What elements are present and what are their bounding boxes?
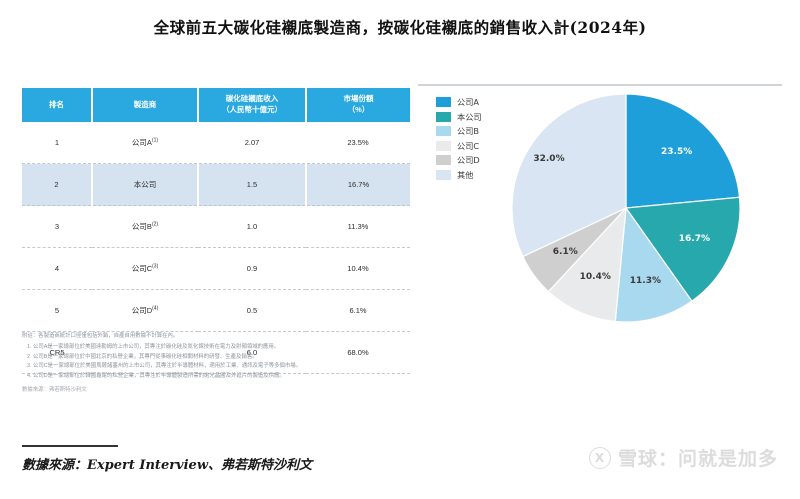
cell-share: 6.1%	[306, 290, 410, 332]
cell-manufacturer-name: 公司A	[132, 138, 152, 147]
column-header-manufacturer: 製造商	[92, 88, 198, 122]
pie-slice-label: 16.7%	[679, 234, 710, 244]
legend-item[interactable]: 公司A	[436, 96, 482, 108]
cell-revenue: 0.5	[198, 290, 306, 332]
slide-root: 全球前五大碳化硅襯底製造商，按碳化硅襯底的銷售收入計(2024年) 排名 製造商…	[0, 0, 800, 499]
footnote-item: 公司D是一家總部位於韓國龜尾的私營企業，其專注於半導體製造所需的拋光晶圓及外延片…	[33, 372, 422, 381]
legend-label: 其他	[457, 169, 473, 181]
column-header-revenue: 碳化硅襯底收入 （人民幣十億元）	[198, 88, 306, 122]
table-header: 排名 製造商 碳化硅襯底收入 （人民幣十億元） 市場份額 （%）	[22, 88, 410, 122]
cell-manufacturer: 公司D(4)	[92, 290, 198, 332]
cell-rank: 4	[22, 248, 92, 290]
panel-divider	[418, 84, 782, 86]
column-header-manufacturer-line1: 製造商	[95, 100, 195, 111]
column-header-share-line2: （%）	[309, 105, 408, 116]
pie-slice-label: 23.5%	[661, 147, 692, 157]
cell-rank: 1	[22, 122, 92, 164]
footer-divider	[22, 445, 118, 447]
column-header-revenue-line2: （人民幣十億元）	[201, 105, 303, 116]
column-header-share-line1: 市場份額	[309, 94, 408, 105]
cell-rank: 2	[22, 164, 92, 206]
legend-swatch-icon	[436, 97, 451, 107]
legend-label: 本公司	[457, 111, 482, 123]
pie-slice-label: 11.3%	[630, 276, 661, 286]
legend-label: 公司C	[457, 140, 479, 152]
footnote-marker: (1)	[152, 138, 158, 144]
footer-source-text: 數據來源：Expert Interview、弗若斯特沙利文	[22, 454, 312, 473]
legend-swatch-icon	[436, 141, 451, 151]
legend-swatch-icon	[436, 126, 451, 136]
pie-slice-label: 6.1%	[553, 247, 578, 257]
pie-chart-svg	[510, 92, 742, 324]
table-row-highlighted: 2 本公司 1.5 16.7%	[22, 164, 410, 206]
footnote-marker: (2)	[152, 222, 158, 228]
cell-rank: 3	[22, 206, 92, 248]
cell-manufacturer-name: 本公司	[134, 180, 157, 189]
legend-item[interactable]: 公司D	[436, 154, 482, 166]
column-header-share: 市場份額 （%）	[306, 88, 410, 122]
table-header-row: 排名 製造商 碳化硅襯底收入 （人民幣十億元） 市場份額 （%）	[22, 88, 410, 122]
cell-revenue: 1.5	[198, 164, 306, 206]
footnotes-block: 附註：各製造商統計口徑僅包括外銷，自產自用數據不計算在內。 公司A是一家總部位於…	[22, 332, 422, 396]
footnote-source: 數據來源：弗若斯特沙利文	[22, 386, 422, 395]
column-header-rank-line1: 排名	[24, 100, 89, 111]
pie-slice-label: 32.0%	[533, 154, 564, 164]
cell-manufacturer: 本公司	[92, 164, 198, 206]
legend-item[interactable]: 公司B	[436, 125, 482, 137]
cell-manufacturer: 公司A(1)	[92, 122, 198, 164]
cell-rank: 5	[22, 290, 92, 332]
pie-chart: 23.5%16.7%11.3%10.4%6.1%32.0%	[510, 92, 742, 324]
chart-legend: 公司A本公司公司B公司C公司D其他	[436, 96, 482, 183]
pie-slice-label: 10.4%	[580, 272, 611, 282]
table-row: 5 公司D(4) 0.5 6.1%	[22, 290, 410, 332]
cell-manufacturer: 公司C(3)	[92, 248, 198, 290]
cell-manufacturer: 公司B(2)	[92, 206, 198, 248]
watermark-logo-icon: X	[589, 447, 611, 469]
cell-share: 23.5%	[306, 122, 410, 164]
legend-item[interactable]: 公司C	[436, 140, 482, 152]
legend-item[interactable]: 其他	[436, 169, 482, 181]
footnote-item: 公司B是一家總部位於中國北京的私營企業，其專門從事碳化硅相關材料的研發、生產及銷…	[33, 353, 422, 362]
cell-manufacturer-name: 公司C	[132, 264, 152, 273]
legend-swatch-icon	[436, 155, 451, 165]
table-row: 3 公司B(2) 1.0 11.3%	[22, 206, 410, 248]
table-row: 1 公司A(1) 2.07 23.5%	[22, 122, 410, 164]
footer-source-block: 數據來源：Expert Interview、弗若斯特沙利文	[22, 445, 312, 473]
legend-label: 公司B	[457, 125, 479, 137]
cell-share: 10.4%	[306, 248, 410, 290]
cell-revenue: 1.0	[198, 206, 306, 248]
table-row: 4 公司C(3) 0.9 10.4%	[22, 248, 410, 290]
column-header-revenue-line1: 碳化硅襯底收入	[201, 94, 303, 105]
cell-manufacturer-name: 公司D	[132, 306, 152, 315]
cell-share: 16.7%	[306, 164, 410, 206]
footnote-marker: (4)	[152, 306, 158, 312]
cell-share: 11.3%	[306, 206, 410, 248]
legend-label: 公司A	[457, 96, 479, 108]
cell-revenue: 0.9	[198, 248, 306, 290]
legend-swatch-icon	[436, 112, 451, 122]
footnote-list: 公司A是一家總部位於美國達勒姆的上市公司，其專注於碳化硅及氮化鎵技術在電力及射頻…	[22, 343, 422, 381]
footnote-marker: (3)	[152, 264, 158, 270]
legend-item[interactable]: 本公司	[436, 111, 482, 123]
cell-manufacturer-name: 公司B	[132, 222, 152, 231]
page-title: 全球前五大碳化硅襯底製造商，按碳化硅襯底的銷售收入計(2024年)	[0, 16, 800, 38]
footnote-header: 附註：各製造商統計口徑僅包括外銷，自產自用數據不計算在內。	[22, 332, 422, 341]
footnote-item: 公司C是一家總部位於美國馬薩諸塞州的上市公司，其專注於半導體材料，適用於工業、通…	[33, 362, 422, 371]
pie-chart-panel: 公司A本公司公司B公司C公司D其他 23.5%16.7%11.3%10.4%6.…	[418, 84, 782, 334]
watermark-text: 雪球：问就是加多	[618, 444, 778, 471]
watermark: X 雪球：问就是加多	[589, 444, 778, 471]
cell-revenue: 2.07	[198, 122, 306, 164]
footnote-item: 公司A是一家總部位於美國達勒姆的上市公司，其專注於碳化硅及氮化鎵技術在電力及射頻…	[33, 343, 422, 352]
legend-swatch-icon	[436, 170, 451, 180]
legend-label: 公司D	[457, 154, 480, 166]
column-header-rank: 排名	[22, 88, 92, 122]
